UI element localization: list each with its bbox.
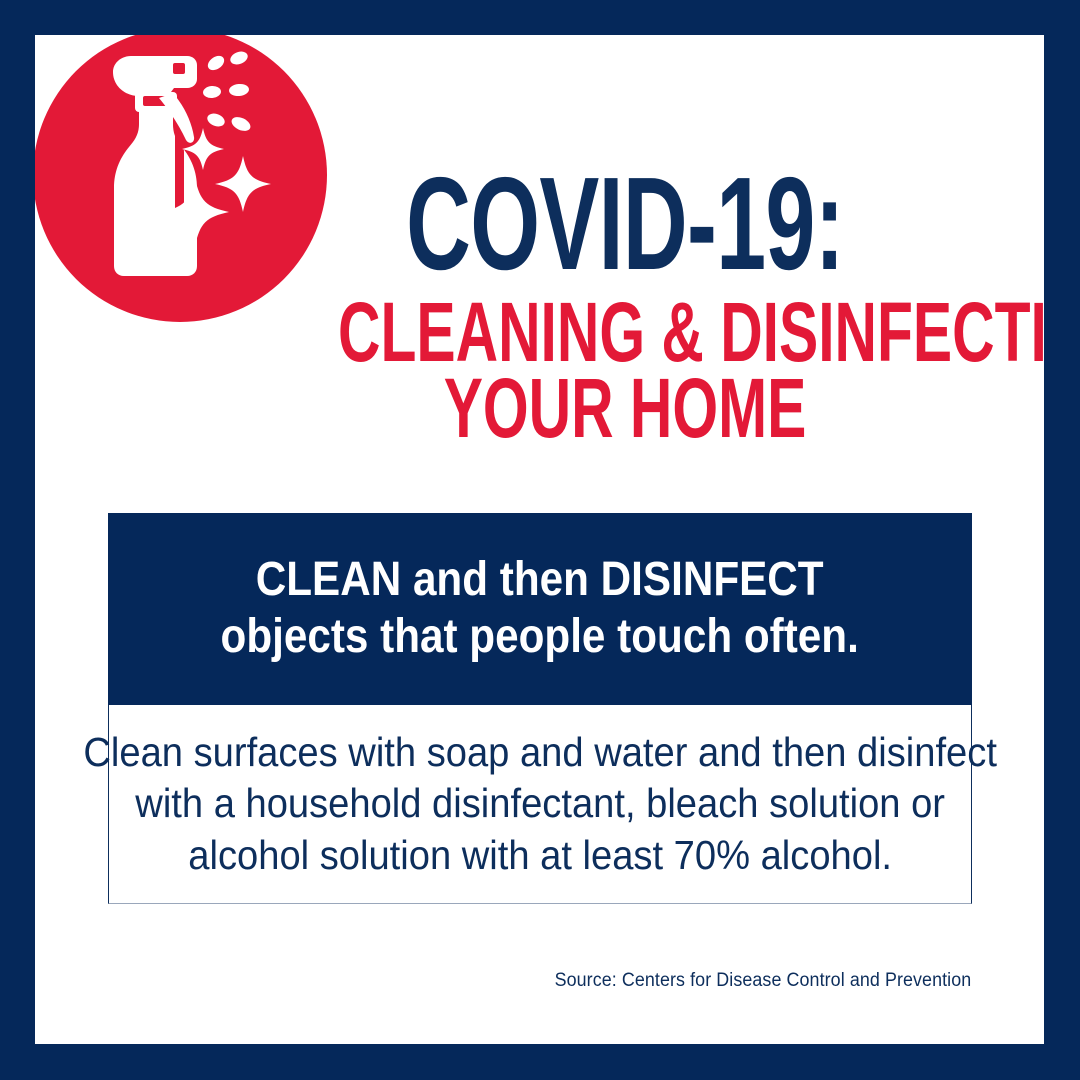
callout-body: Clean surfaces with soap and water and t… bbox=[108, 705, 972, 904]
page-subtitle-line-2: YOUR HOME bbox=[338, 366, 912, 450]
callout-body-line-2: with a household disinfectant, bleach so… bbox=[83, 778, 997, 830]
callout-body-line-1: Clean surfaces with soap and water and t… bbox=[83, 727, 997, 779]
page-title: COVID-19: bbox=[346, 163, 904, 284]
callout-header-line-2: objects that people touch often. bbox=[221, 609, 859, 666]
poster-canvas: COVID-19: CLEANING & DISINFECTING YOUR H… bbox=[35, 35, 1044, 1044]
callout-card: CLEAN and then DISINFECT objects that pe… bbox=[108, 513, 972, 904]
source-credit: Source: Centers for Disease Control and … bbox=[554, 970, 971, 992]
spray-bottle-icon bbox=[83, 50, 273, 282]
headline-block: COVID-19: CLEANING & DISINFECTING YOUR H… bbox=[215, 163, 1035, 450]
callout-header-line-1: CLEAN and then DISINFECT bbox=[221, 552, 859, 609]
callout-body-line-3: alcohol solution with at least 70% alcoh… bbox=[83, 830, 997, 882]
badge-circle bbox=[35, 35, 327, 322]
callout-body-text: Clean surfaces with soap and water and t… bbox=[83, 727, 997, 882]
callout-header-text: CLEAN and then DISINFECT objects that pe… bbox=[221, 552, 859, 665]
poster-frame: COVID-19: CLEANING & DISINFECTING YOUR H… bbox=[0, 0, 1080, 1080]
callout-header: CLEAN and then DISINFECT objects that pe… bbox=[108, 513, 972, 705]
